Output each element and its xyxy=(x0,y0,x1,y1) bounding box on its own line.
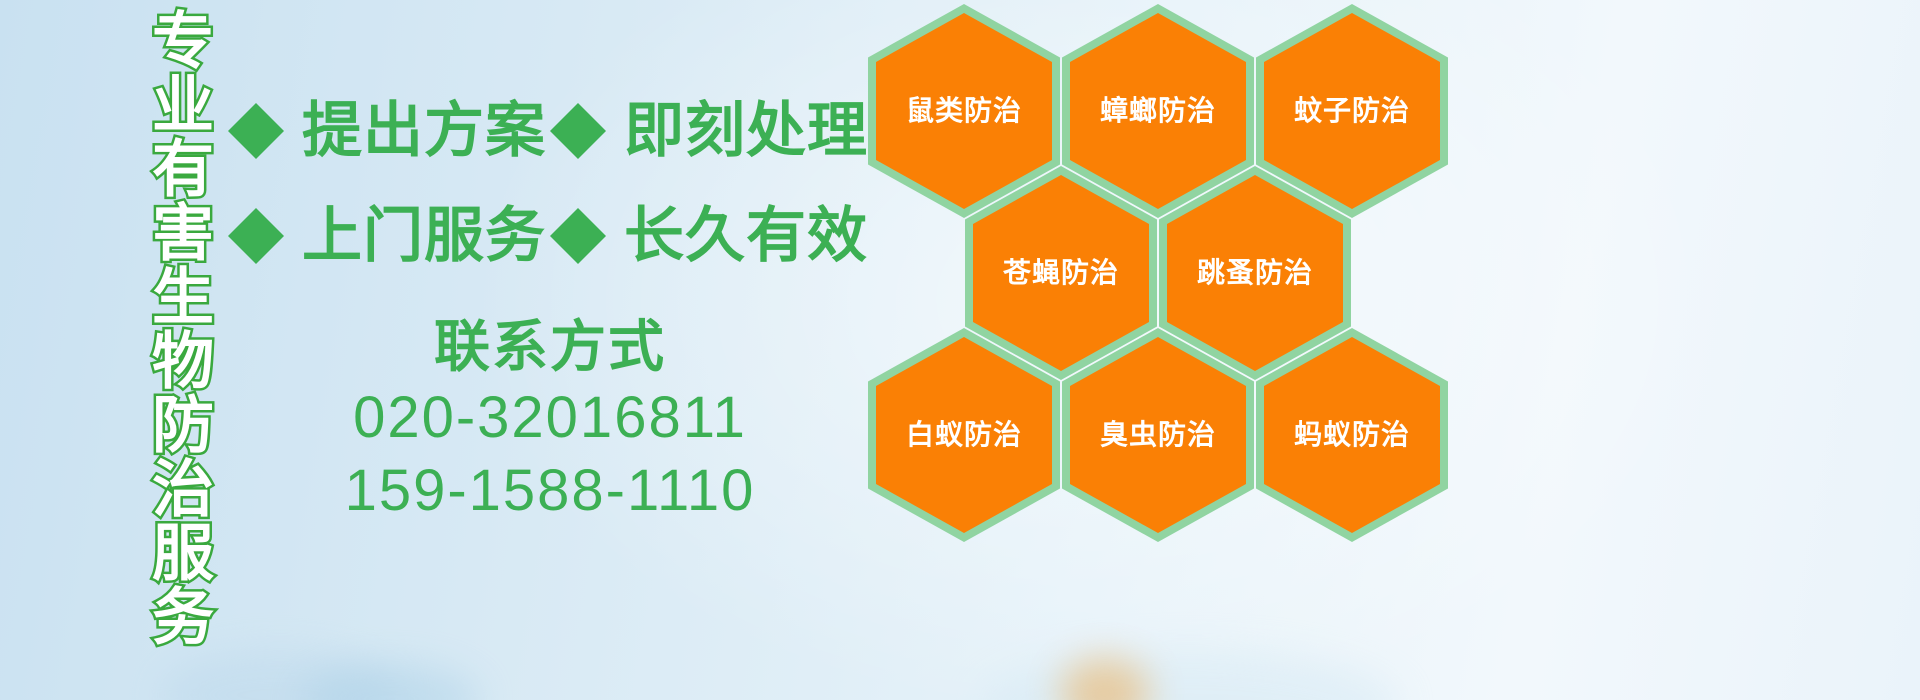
contact-block: 联系方式 020-32016811 159-1588-1110 xyxy=(300,312,800,527)
phone-number-landline[interactable]: 020-32016811 xyxy=(300,382,800,455)
hexagon-inner: 蟑螂防治 xyxy=(1070,13,1246,209)
service-label: 白蚁防治 xyxy=(906,421,1022,449)
feature-row: 上门服务 长久有效 xyxy=(228,183,868,288)
hexagon-inner: 苍蝇防治 xyxy=(973,175,1149,371)
hexagon-inner: 白蚁防治 xyxy=(876,337,1052,533)
service-hexagon-grid: 鼠类防治 蟑螂防治 蚊子防治 苍蝇防治 跳蚤防治 白蚁防治 xyxy=(860,0,1460,554)
feature-item-immediate-handling: 即刻处理 xyxy=(550,101,868,161)
promo-banner: 专业有害生物防治服务 提出方案 即刻处理 上门服务 长久有效 xyxy=(0,0,1920,700)
feature-item-long-lasting: 长久有效 xyxy=(550,206,868,266)
diamond-bullet-icon xyxy=(228,180,284,236)
feature-item-propose-plan: 提出方案 xyxy=(228,101,546,161)
hexagon-inner: 跳蚤防治 xyxy=(1167,175,1343,371)
diamond-bullet-icon xyxy=(550,75,606,131)
feature-label: 即刻处理 xyxy=(624,101,868,161)
hexagon-inner: 蚊子防治 xyxy=(1264,13,1440,209)
decorative-blob xyxy=(980,650,1400,700)
decorative-blob xyxy=(300,664,480,700)
hexagon-inner: 鼠类防治 xyxy=(876,13,1052,209)
service-label: 跳蚤防治 xyxy=(1197,259,1313,287)
feature-item-onsite-service: 上门服务 xyxy=(228,206,546,266)
feature-list: 提出方案 即刻处理 上门服务 长久有效 xyxy=(228,78,868,288)
hexagon-inner: 蚂蚁防治 xyxy=(1264,337,1440,533)
contact-heading: 联系方式 xyxy=(300,312,800,382)
feature-row: 提出方案 即刻处理 xyxy=(228,78,868,183)
feature-label: 提出方案 xyxy=(302,101,546,161)
feature-label: 上门服务 xyxy=(302,206,546,266)
decorative-blob xyxy=(1060,658,1150,700)
diamond-bullet-icon xyxy=(228,75,284,131)
diamond-bullet-icon xyxy=(550,180,606,236)
service-label: 蚂蚁防治 xyxy=(1294,421,1410,449)
phone-number-mobile[interactable]: 159-1588-1110 xyxy=(300,455,800,528)
feature-label: 长久有效 xyxy=(624,206,868,266)
hexagon-inner: 臭虫防治 xyxy=(1070,337,1246,533)
service-label: 蟑螂防治 xyxy=(1100,97,1216,125)
service-label: 蚊子防治 xyxy=(1294,97,1410,125)
service-label: 苍蝇防治 xyxy=(1003,259,1119,287)
vertical-headline: 专业有害生物防治服务 xyxy=(112,8,208,692)
service-label: 鼠类防治 xyxy=(906,97,1022,125)
service-label: 臭虫防治 xyxy=(1100,421,1216,449)
